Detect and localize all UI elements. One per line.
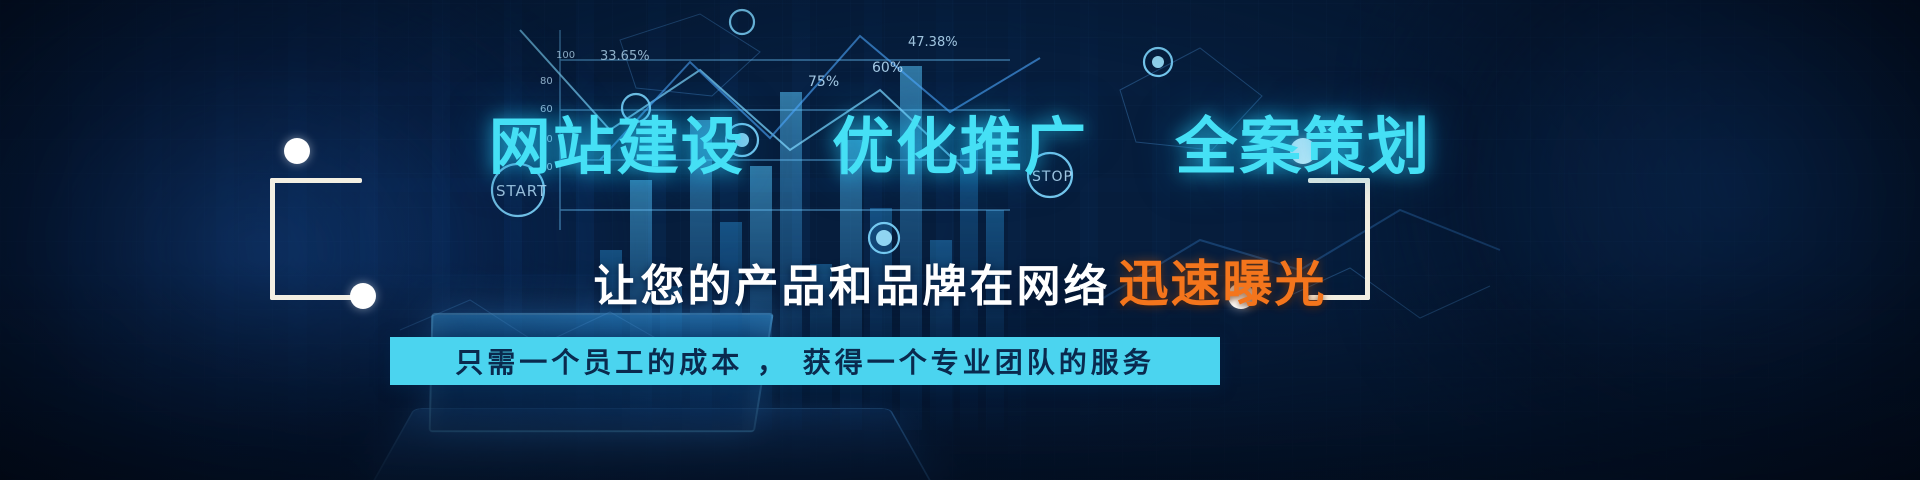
promo-banner: 33.65% 47.38% 60% 75% 100 80 60 40 20 50…	[0, 0, 1920, 480]
subheadline-prefix: 让您的产品和品牌在网络	[594, 261, 1111, 312]
headline-part-3: 全案策划	[1175, 110, 1431, 183]
headline-part-2: 优化推广	[832, 110, 1088, 183]
subheadline-highlight: 迅速曝光	[1119, 255, 1327, 313]
banner-content: 网站建设 优化推广 全案策划 让您的产品和品牌在网络迅速曝光 只需一个员工的成本…	[0, 0, 1920, 480]
subheadline: 让您的产品和品牌在网络迅速曝光	[0, 244, 1920, 316]
tagline-ribbon: 只需一个员工的成本 ， 获得一个专业团队的服务	[390, 337, 1220, 385]
headline: 网站建设 优化推广 全案策划	[0, 96, 1920, 186]
headline-part-1: 网站建设	[489, 110, 745, 183]
tagline-text: 只需一个员工的成本 ， 获得一个专业团队的服务	[455, 341, 1155, 381]
